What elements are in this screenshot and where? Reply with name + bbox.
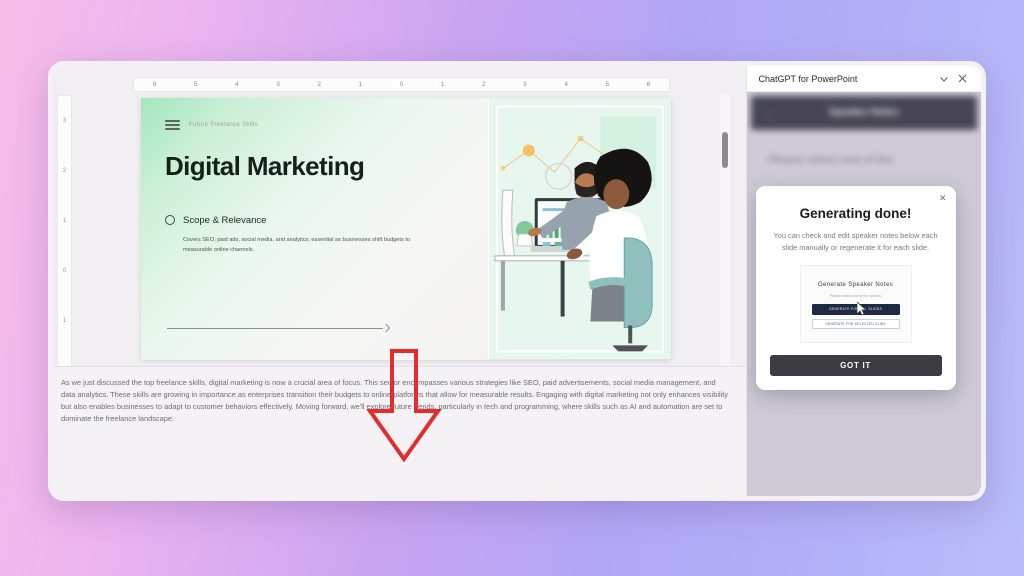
ruler-tick-5: 1 — [340, 78, 381, 91]
ruler-vtick-4: 1 — [58, 296, 71, 346]
ruler-vtick-0: 3 — [58, 96, 71, 146]
app-window: 6543210123456 3210123 Future Freelance S… — [48, 61, 986, 501]
backdrop-header-title: Speaker Notes — [829, 107, 898, 118]
slide-canvas[interactable]: Future Freelance Skills Digital Marketin… — [141, 98, 671, 360]
scrollbar-thumb[interactable] — [722, 132, 728, 168]
modal-close-icon[interactable]: ✕ — [939, 194, 947, 203]
slide-bullet: Scope & Relevance — [165, 215, 464, 226]
generating-done-modal: ✕ Generating done! You can check and edi… — [756, 186, 956, 390]
ruler-tick-4: 2 — [299, 78, 340, 91]
ruler-tick-2: 4 — [216, 78, 257, 91]
ruler-tick-1: 5 — [175, 78, 216, 91]
horizontal-ruler[interactable]: 6543210123456 — [134, 78, 669, 91]
ruler-tick-12: 6 — [628, 78, 669, 91]
desk-illustration-icon — [489, 98, 671, 360]
ruler-vtick-2: 1 — [58, 196, 71, 246]
backdrop-back-icon: ← — [765, 108, 774, 118]
addin-header: ChatGPT for PowerPoint — [747, 66, 981, 92]
slide-arrow-decoration — [167, 324, 389, 332]
cursor-icon — [857, 302, 867, 320]
slide-editor: 6543210123456 3210123 Future Freelance S… — [53, 66, 746, 496]
ruler-tick-6: 0 — [381, 78, 422, 91]
ruler-vtick-3: 0 — [58, 246, 71, 296]
addin-backdrop-header: ← Speaker Notes — [751, 96, 977, 130]
addin-body: ← Speaker Notes Please select one of the… — [747, 92, 981, 496]
hamburger-icon — [165, 120, 180, 130]
slide-title: Digital Marketing — [165, 151, 464, 182]
red-arrow-annotation — [366, 349, 442, 462]
addin-panel: ChatGPT for PowerPoint ← Speaker Notes P… — [746, 66, 981, 496]
slide-illustration-half — [488, 98, 671, 360]
thumb-generate-all-button: GENERATE FOR ALL SLIDES — [812, 304, 900, 315]
ruler-tick-9: 3 — [504, 78, 545, 91]
chevron-down-icon[interactable] — [935, 70, 953, 88]
slide-bullet-heading: Scope & Relevance — [183, 215, 266, 226]
thumb-subtitle: Please select one of the options — [801, 294, 911, 298]
close-icon[interactable] — [953, 70, 971, 88]
addin-title: ChatGPT for PowerPoint — [759, 74, 935, 84]
slide-header: Future Freelance Skills — [165, 120, 464, 130]
ruler-tick-8: 2 — [463, 78, 504, 91]
modal-description: You can check and edit speaker notes bel… — [770, 230, 942, 254]
canvas-scrollbar[interactable] — [720, 94, 730, 384]
slide-kicker: Future Freelance Skills — [189, 121, 258, 128]
circle-icon — [165, 215, 175, 225]
ruler-tick-3: 3 — [257, 78, 298, 91]
ruler-tick-0: 6 — [134, 78, 175, 91]
thumb-generate-selected-button: GENERATE FOR SELECTED SLIDE — [812, 319, 900, 329]
modal-thumbnail: Generate Speaker Notes Please select one… — [800, 265, 912, 343]
thumb-title: Generate Speaker Notes — [801, 282, 911, 288]
got-it-button[interactable]: GOT IT — [770, 355, 942, 376]
ruler-vtick-1: 2 — [58, 146, 71, 196]
slide-bullet-body: Covers SEO, paid ads, social media, and … — [183, 235, 433, 256]
ruler-tick-10: 4 — [546, 78, 587, 91]
slide-text-half: Future Freelance Skills Digital Marketin… — [141, 98, 488, 360]
ruler-tick-7: 1 — [422, 78, 463, 91]
ruler-tick-11: 5 — [587, 78, 628, 91]
backdrop-prompt-line: Please select one of the — [769, 154, 894, 166]
modal-title: Generating done! — [770, 206, 942, 221]
